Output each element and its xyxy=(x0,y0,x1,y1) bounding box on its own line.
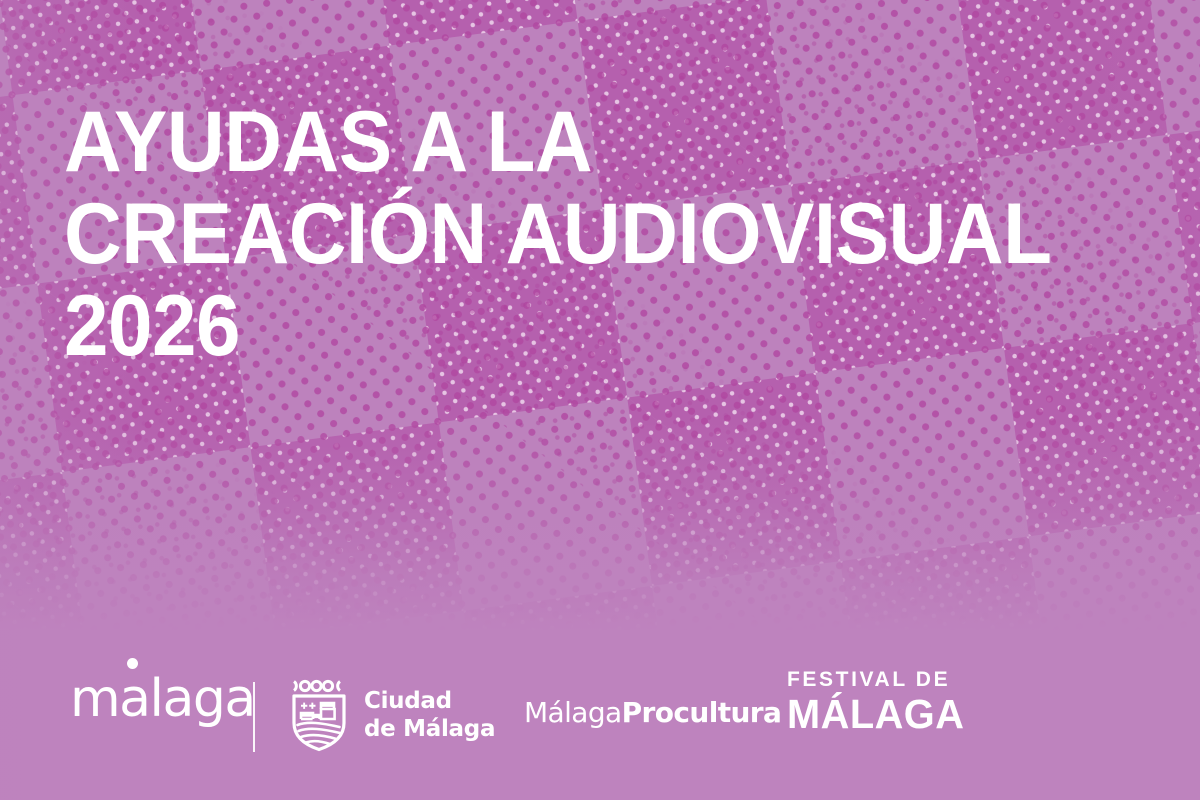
logo-bar: malaga xyxy=(0,640,1200,800)
logo-malaga[interactable]: malaga xyxy=(70,673,255,725)
logo-ciudad-text: Ciudad de Málaga xyxy=(364,687,495,743)
headline-line-2: CREACIÓN AUDIOVISUAL xyxy=(64,188,1052,280)
logo-malaga-laga: laga xyxy=(150,669,255,729)
logo-ciudad-line-1: Ciudad xyxy=(364,687,495,715)
logo-festival-de-malaga[interactable]: FESTIVAL DE MÁLAGA xyxy=(787,669,970,735)
logo-malaga-procultura[interactable]: MálagaProcultura xyxy=(524,699,781,727)
shield-icon xyxy=(288,678,350,752)
logo-malaga-a: a xyxy=(119,669,149,729)
logo-divider xyxy=(253,682,255,752)
dot-accent-icon xyxy=(127,658,138,669)
page-title: AYUDAS A LA CREACIÓN AUDIOVISUAL 2026 xyxy=(64,96,1126,372)
logo-procultura-bold: Procultura xyxy=(622,696,782,729)
logo-procultura-light: Málaga xyxy=(524,696,622,729)
headline-line-3: 2026 xyxy=(64,280,1052,372)
logo-ciudad-line-2: de Málaga xyxy=(364,715,495,743)
logo-festival-line-2: MÁLAGA xyxy=(787,694,964,735)
logo-festival-line-1: FESTIVAL DE xyxy=(787,669,970,690)
poster-canvas: AYUDAS A LA CREACIÓN AUDIOVISUAL 2026 ma… xyxy=(0,0,1200,800)
logo-malaga-accent-wrap: a xyxy=(119,673,149,725)
headline-line-1: AYUDAS A LA xyxy=(64,96,1052,188)
logo-malaga-m: m xyxy=(70,669,119,729)
logo-ciudad-de-malaga[interactable]: Ciudad de Málaga xyxy=(288,678,495,752)
